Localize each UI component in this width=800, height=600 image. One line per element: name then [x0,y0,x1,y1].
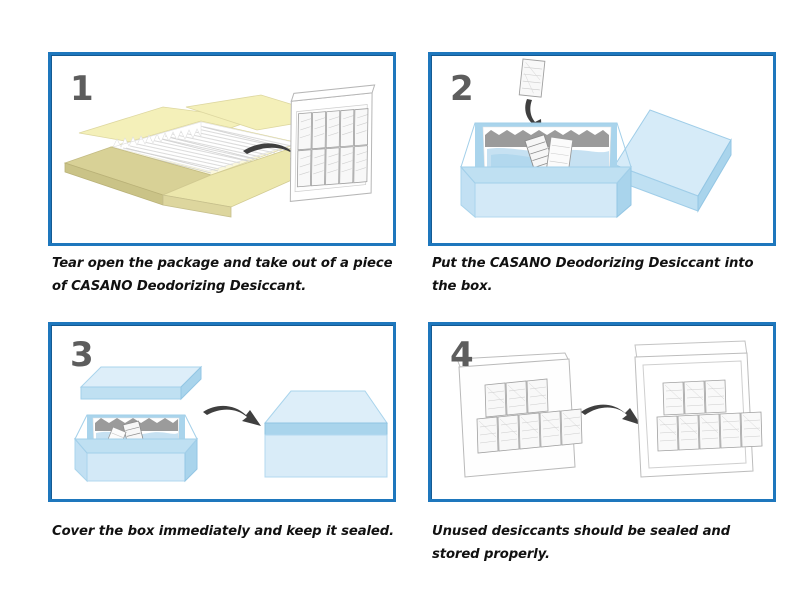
step-3-caption: Cover the box immediately and keep it se… [52,521,412,544]
detached-box-lid [615,110,731,211]
step-2-illustration [431,55,773,243]
curved-arrow-right [581,405,641,425]
dropping-sachet-into-open-box [431,55,773,243]
curved-arrow-right [203,406,261,426]
step-4: 4 [428,322,776,502]
step-1: 1 [48,52,396,246]
step-4-caption-line-2: stored properly. [432,544,792,567]
step-4-caption-line-1: Unused desiccants should be sealed and [432,521,792,544]
step-1-illustration [51,55,393,243]
step-3: 3 [48,322,396,502]
step-1-number: 1 [70,72,93,106]
step-3-caption-line-1: Cover the box immediately and keep it se… [52,521,412,544]
step-3-number: 3 [70,338,93,372]
step-2: 2 [428,52,776,246]
step-1-caption: Tear open the package and take out of a … [52,253,412,298]
open-carton-with-desiccant-bag [51,55,393,243]
lifted-box-lid [81,367,201,399]
resealing-remaining-sachets [431,325,773,499]
step-1-caption-line-2: of CASANO Deodorizing Desiccant. [52,276,412,299]
sealed-bag-with-sachets [635,341,762,477]
step-2-caption-line-1: Put the CASANO Deodorizing Desiccant int… [432,253,792,276]
step-4-caption: Unused desiccants should be sealed and s… [432,521,792,566]
closed-blue-box [265,391,387,477]
closing-the-box [51,325,393,499]
open-blue-box-with-contents [461,123,631,217]
open-bag-with-sachets [457,353,582,477]
step-4-illustration [431,325,773,499]
open-blue-box-with-contents [75,415,197,481]
transparent-bag-of-sachets [284,79,378,207]
step-1-caption-line-1: Tear open the package and take out of a … [52,253,412,276]
step-2-caption-line-2: the box. [432,276,792,299]
step-2-caption: Put the CASANO Deodorizing Desiccant int… [432,253,792,298]
single-sachet [519,59,545,97]
step-4-number: 4 [450,338,473,372]
step-2-number: 2 [450,72,473,106]
instruction-sheet: 1 Tear open the package and take out of … [0,0,800,600]
step-3-illustration [51,325,393,499]
